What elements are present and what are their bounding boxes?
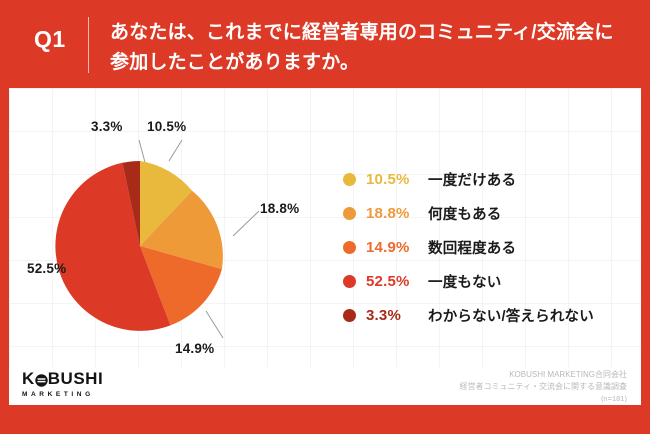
content-panel: 3.3% 10.5% 18.8% 14.9% 52.5% 10.5% 一度だけあ… [9,88,641,405]
question-number: Q1 [34,28,66,51]
legend-label: 一度もない [428,271,502,292]
legend-percent: 10.5% [366,171,428,188]
logo-wordmark: K BUSHI [22,370,103,388]
legend-dot-icon [343,173,356,186]
footer-bar: K BUSHI MARKETING KOBUSHI MARKETING合同会社 … [9,367,641,405]
legend-item-4[interactable]: 52.5% 一度もない [343,264,633,298]
logo-text-pre: K [22,370,35,388]
fist-icon [35,373,48,386]
chart-legend: 10.5% 一度だけある 18.8% 何度もある 14.9% 数回程度ある 52… [343,162,633,332]
source-credit: KOBUSHI MARKETING合同会社 経営者コミュニティ・交流会に関する意… [459,369,627,405]
pie-chart-svg [27,106,327,371]
legend-label: 何度もある [428,203,502,224]
pie-callout-10.5: 10.5% [147,119,186,134]
legend-item-2[interactable]: 18.8% 何度もある [343,196,633,230]
header-divider [88,17,89,73]
legend-percent: 18.8% [366,205,428,222]
source-survey-name: 経営者コミュニティ・交流会に関する意識調査 [459,381,627,393]
source-company: KOBUSHI MARKETING合同会社 [459,369,627,381]
question-title-line-1: あなたは、これまでに経営者専用のコミュニティ/交流会に [110,18,635,48]
legend-percent: 14.9% [366,239,428,256]
legend-percent: 3.3% [366,307,428,324]
pie-callout-3.3: 3.3% [91,119,123,134]
pie-chart: 3.3% 10.5% 18.8% 14.9% 52.5% [27,106,327,371]
logo-text-post: BUSHI [48,370,103,388]
legend-item-1[interactable]: 10.5% 一度だけある [343,162,633,196]
header-bar: Q1 あなたは、これまでに経営者専用のコミュニティ/交流会に 参加したことがあり… [0,0,650,88]
pie-callout-14.9: 14.9% [175,341,214,356]
legend-percent: 52.5% [366,273,428,290]
pie-callout-18.8: 18.8% [260,201,299,216]
legend-label: 一度だけある [428,169,516,190]
kobushi-logo: K BUSHI MARKETING [22,370,103,398]
legend-dot-icon [343,309,356,322]
legend-dot-icon [343,207,356,220]
legend-label: 数回程度ある [428,237,516,258]
legend-item-5[interactable]: 3.3% わからない/答えられない [343,298,633,332]
question-title: あなたは、これまでに経営者専用のコミュニティ/交流会に 参加したことがありますか… [110,18,635,78]
slide-root: Q1 あなたは、これまでに経営者専用のコミュニティ/交流会に 参加したことがあり… [0,0,650,434]
pie-slices [55,161,222,331]
legend-dot-icon [343,275,356,288]
leader-line-18.8 [233,211,259,236]
pie-callout-52.5: 52.5% [27,261,66,276]
leader-line-10.5 [169,140,182,161]
legend-item-3[interactable]: 14.9% 数回程度ある [343,230,633,264]
source-sample-size: (n=181) [459,393,627,405]
question-title-line-2: 参加したことがありますか。 [110,48,635,78]
logo-tagline: MARKETING [22,391,103,398]
legend-label: わからない/答えられない [428,305,594,326]
leader-line-14.9 [206,311,223,338]
legend-dot-icon [343,241,356,254]
